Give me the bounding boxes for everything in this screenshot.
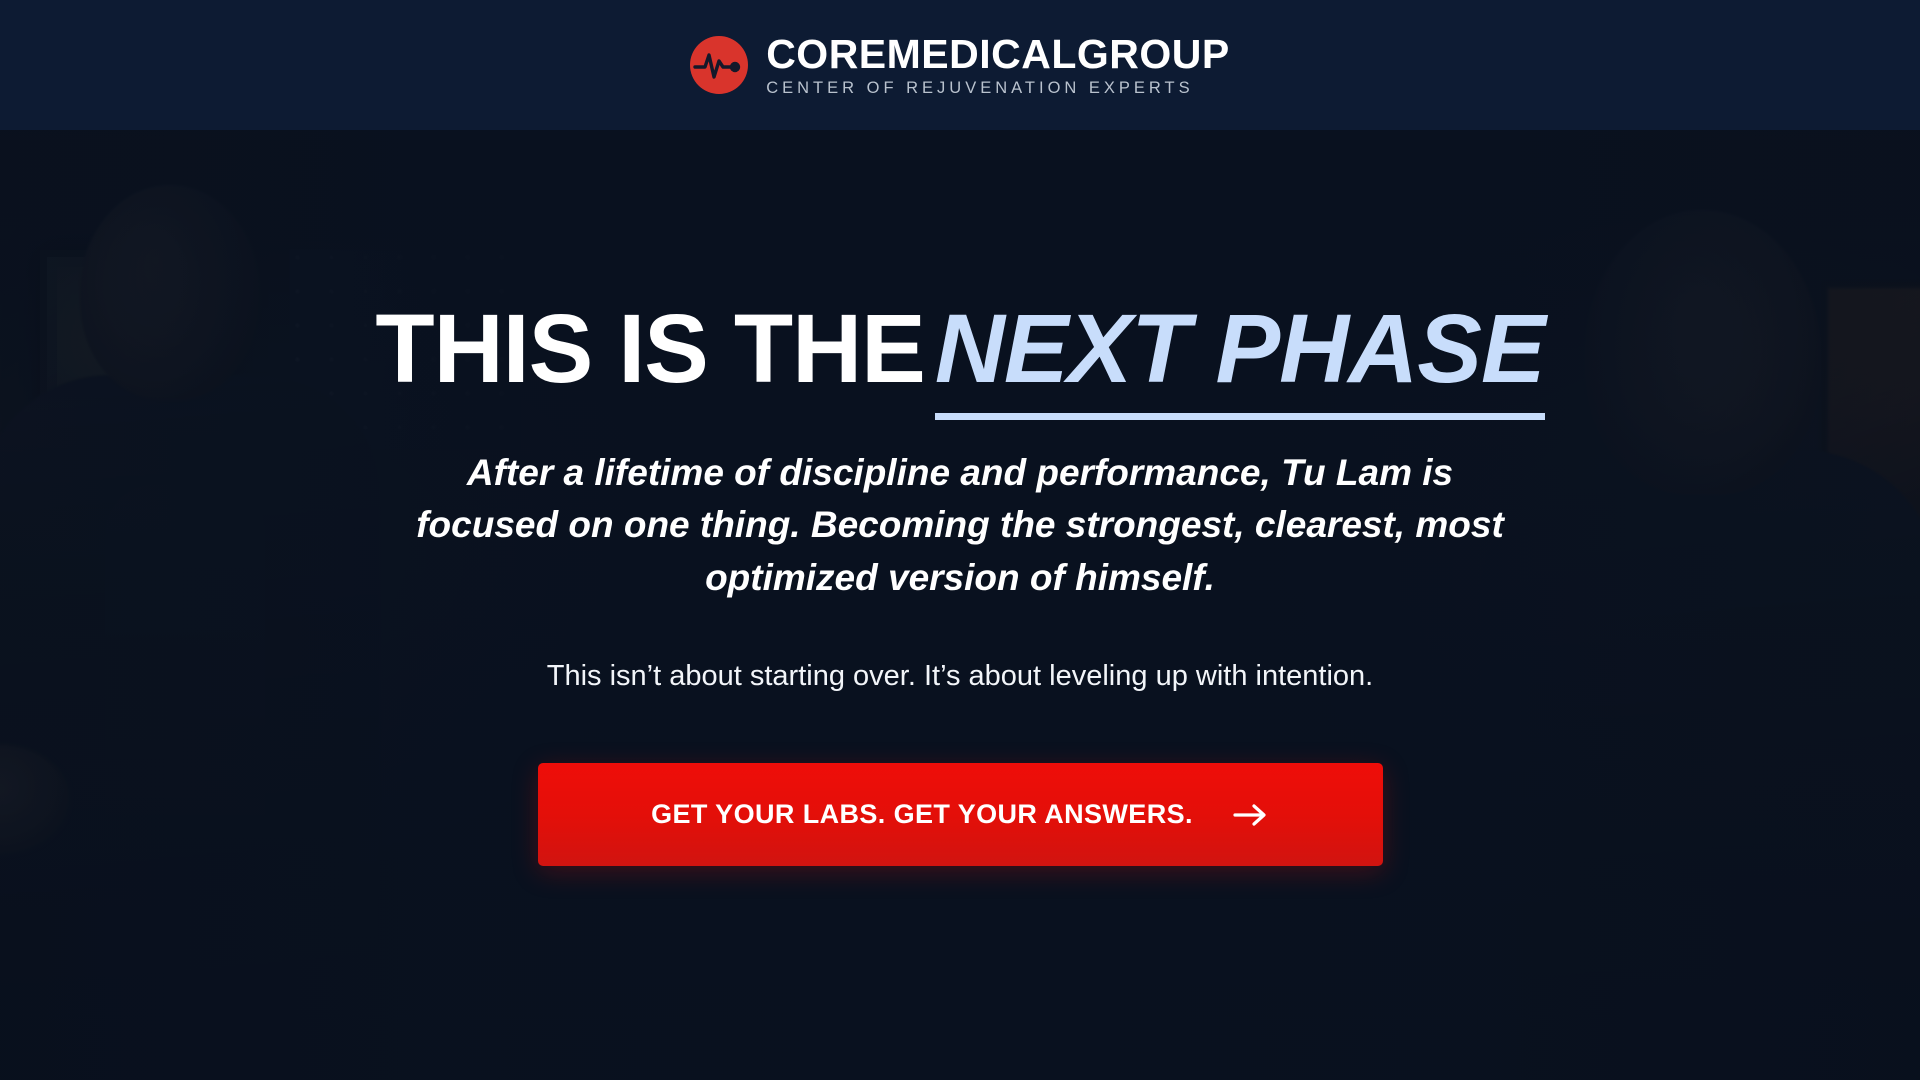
- get-your-labs-cta-button[interactable]: GET YOUR LABS. GET YOUR ANSWERS.: [538, 763, 1383, 866]
- headline-accent: NEXT PHASE: [935, 294, 1545, 420]
- hero-subheadline: After a lifetime of discipline and perfo…: [410, 447, 1510, 605]
- hero-section: THIS IS THENEXT PHASE After a lifetime o…: [0, 130, 1920, 1080]
- hero-headline: THIS IS THENEXT PHASE: [375, 298, 1544, 401]
- arrow-right-icon: [1233, 804, 1269, 826]
- site-header: COREMEDICALGROUP CENTER OF REJUVENATION …: [0, 0, 1920, 130]
- logo-link[interactable]: COREMEDICALGROUP CENTER OF REJUVENATION …: [690, 34, 1230, 97]
- hero-content: THIS IS THENEXT PHASE After a lifetime o…: [0, 130, 1920, 1080]
- hero-kicker: This isn’t about starting over. It’s abo…: [547, 656, 1373, 697]
- heartbeat-pulse-circle-icon: [690, 36, 748, 94]
- brand-name: COREMEDICALGROUP: [766, 34, 1230, 75]
- brand-tagline: CENTER OF REJUVENATION EXPERTS: [766, 80, 1230, 97]
- cta-label: GET YOUR LABS. GET YOUR ANSWERS.: [651, 799, 1193, 830]
- headline-lead: THIS IS THE: [375, 294, 925, 403]
- logo-wordmark: COREMEDICALGROUP CENTER OF REJUVENATION …: [766, 34, 1230, 97]
